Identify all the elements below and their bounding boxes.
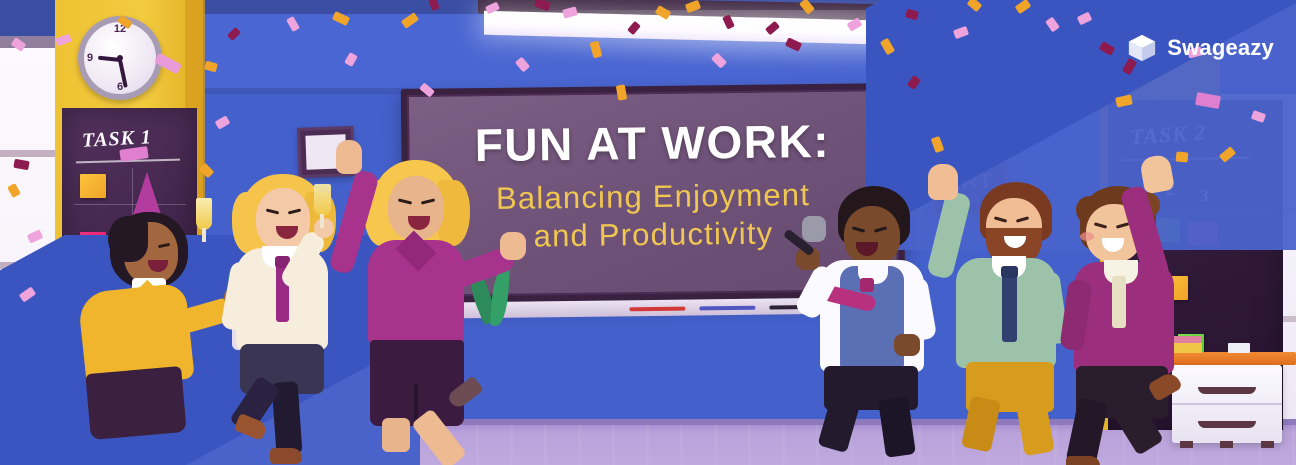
necktie bbox=[1112, 276, 1126, 328]
cheek-blush bbox=[1080, 232, 1094, 241]
wall-clock: 12 9 6 bbox=[78, 16, 162, 100]
microphone-head bbox=[802, 216, 826, 242]
glass-stem-2 bbox=[202, 228, 206, 242]
shoe bbox=[270, 448, 302, 464]
subtitle-line-1: Balancing Enjoyment bbox=[496, 177, 810, 216]
left-wall-trim bbox=[0, 36, 55, 48]
brand-logo[interactable]: Swageazy bbox=[1127, 33, 1274, 63]
brand-name: Swageazy bbox=[1167, 35, 1274, 61]
left-wall-line bbox=[0, 374, 55, 381]
left-wall-line bbox=[0, 150, 55, 157]
necktie-knot bbox=[1001, 266, 1018, 278]
leg bbox=[382, 418, 410, 452]
hand bbox=[500, 232, 526, 260]
necktie bbox=[1002, 270, 1017, 342]
red-marker bbox=[629, 307, 685, 312]
hand-on-hip bbox=[894, 334, 920, 356]
face bbox=[388, 176, 444, 240]
clock-numeral-12: 12 bbox=[114, 23, 126, 35]
clock-numeral-9: 9 bbox=[87, 52, 93, 64]
shoe bbox=[234, 413, 269, 441]
hand-raised bbox=[336, 140, 362, 174]
task-underline bbox=[1122, 157, 1250, 162]
desk-leg bbox=[1261, 441, 1274, 448]
left-wall-panel bbox=[0, 0, 55, 430]
skirt bbox=[85, 366, 186, 440]
left-wall-top bbox=[0, 0, 55, 40]
fun-at-work-banner: 12 9 6 TASK 1 TASK 2 1 2 3 bbox=[0, 0, 1296, 465]
face bbox=[844, 206, 900, 266]
person-woman-blonde-cheering bbox=[322, 158, 502, 448]
blue-marker bbox=[699, 306, 755, 311]
desk-leg bbox=[1220, 441, 1233, 448]
champagne-glass-2 bbox=[196, 198, 212, 230]
person-man-microphone bbox=[798, 186, 958, 446]
necktie-knot bbox=[860, 278, 874, 292]
shoe bbox=[1066, 456, 1100, 465]
left-wall-line bbox=[0, 262, 55, 269]
box-cube-icon bbox=[1127, 33, 1157, 63]
person-man-curly-pointing bbox=[1058, 176, 1218, 456]
task-board-right-label: TASK 2 bbox=[1129, 119, 1207, 150]
hair-front bbox=[108, 216, 148, 262]
leg bbox=[1066, 398, 1109, 465]
clock-center-pin bbox=[117, 55, 123, 61]
desk-paper bbox=[1228, 343, 1250, 353]
